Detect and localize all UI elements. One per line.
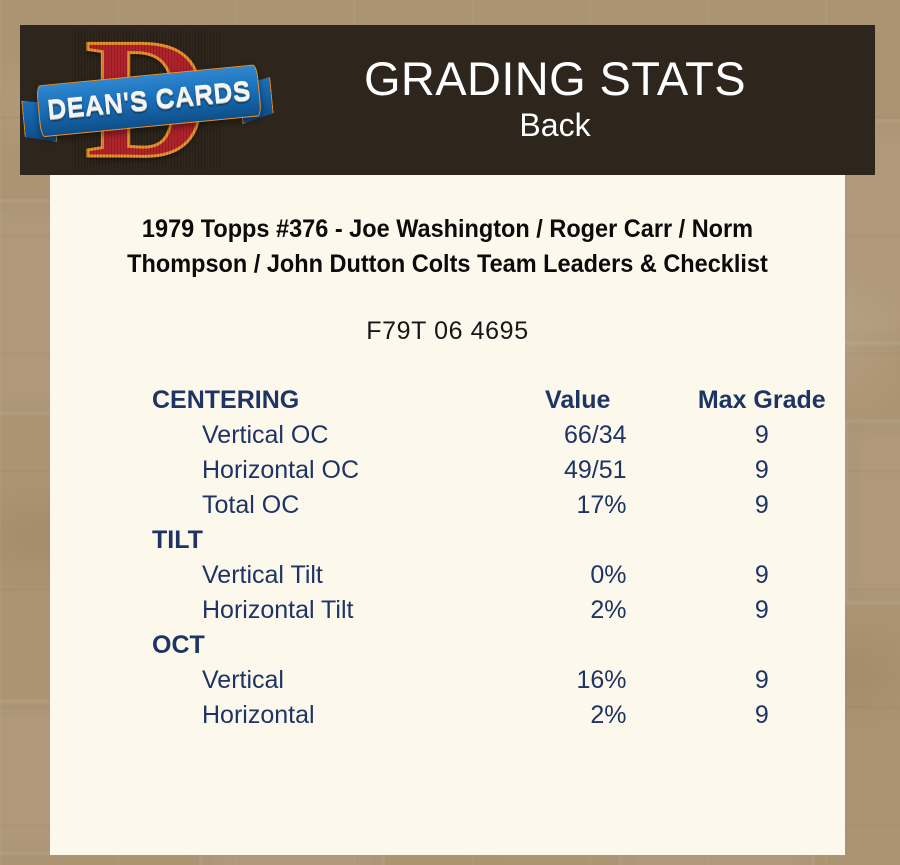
stats-section-header-row: TILT: [50, 523, 845, 558]
table-row: Total OC17%9: [50, 488, 845, 523]
card-description-title: 1979 Topps #376 - Joe Washington / Roger…: [116, 212, 779, 281]
table-row: Vertical16%9: [50, 663, 845, 698]
stats-empty-cell: [679, 523, 845, 558]
table-row: Horizontal2%9: [50, 698, 845, 733]
stats-row-value: 2%: [477, 698, 679, 733]
stats-row-max-grade: 9: [679, 593, 845, 628]
serial-number: F79T 06 4695: [50, 317, 845, 346]
stats-row-max-grade: 9: [679, 488, 845, 523]
stats-section-label: TILT: [50, 523, 477, 558]
stats-empty-cell: [477, 628, 679, 663]
table-row: Vertical Tilt0%9: [50, 558, 845, 593]
stats-empty-cell: [477, 523, 679, 558]
page-title: GRADING STATS: [275, 55, 835, 103]
stats-row-max-grade: 9: [679, 453, 845, 488]
logo-ribbon-body: DEAN'S CARDS: [36, 64, 262, 137]
stats-column-header-max-grade: Max Grade: [679, 383, 845, 418]
deans-cards-logo[interactable]: D DEAN'S CARDS: [20, 25, 275, 175]
stats-row-max-grade: 9: [679, 663, 845, 698]
table-row: Horizontal Tilt2%9: [50, 593, 845, 628]
stats-section-header-row: CENTERINGValueMax Grade: [50, 383, 845, 418]
logo-ribbon: DEAN'S CARDS: [20, 61, 274, 143]
stats-row-label: Vertical OC: [50, 418, 477, 453]
stats-row-value: 16%: [477, 663, 679, 698]
stats-row-value: 0%: [477, 558, 679, 593]
logo-wordmark: DEAN'S CARDS: [46, 76, 252, 126]
content-card: 1979 Topps #376 - Joe Washington / Roger…: [50, 175, 845, 855]
stats-row-max-grade: 9: [679, 418, 845, 453]
stats-row-max-grade: 9: [679, 558, 845, 593]
stats-row-value: 49/51: [477, 453, 679, 488]
stats-section-label: CENTERING: [50, 383, 477, 418]
table-row: Horizontal OC49/519: [50, 453, 845, 488]
stats-row-value: 17%: [477, 488, 679, 523]
stats-row-max-grade: 9: [679, 698, 845, 733]
stats-row-label: Horizontal: [50, 698, 477, 733]
stats-row-label: Vertical Tilt: [50, 558, 477, 593]
stats-row-value: 2%: [477, 593, 679, 628]
stats-row-label: Horizontal Tilt: [50, 593, 477, 628]
stats-section-label: OCT: [50, 628, 477, 663]
page-root: D DEAN'S CARDS GRADING STATS Back 1979 T…: [0, 0, 900, 865]
stats-section-header-row: OCT: [50, 628, 845, 663]
stats-row-value: 66/34: [477, 418, 679, 453]
grading-stats-table: CENTERINGValueMax GradeVertical OC66/349…: [50, 383, 845, 733]
stats-row-label: Vertical: [50, 663, 477, 698]
stats-row-label: Total OC: [50, 488, 477, 523]
table-row: Vertical OC66/349: [50, 418, 845, 453]
stats-empty-cell: [679, 628, 845, 663]
page-subtitle: Back: [275, 105, 835, 145]
background-card-decor: [845, 420, 900, 604]
header-band: D DEAN'S CARDS GRADING STATS Back: [20, 25, 875, 175]
header-title-group: GRADING STATS Back: [275, 55, 875, 145]
stats-column-header-value: Value: [477, 383, 679, 418]
stats-row-label: Horizontal OC: [50, 453, 477, 488]
